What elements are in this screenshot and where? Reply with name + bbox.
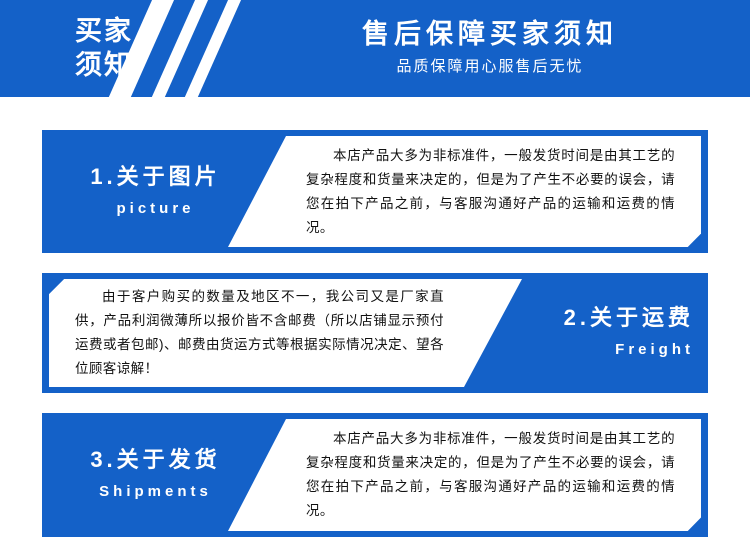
page-title: 售后保障买家须知 <box>250 16 730 52</box>
section-block-freight: 2.关于运费 Freight 由于客户购买的数量及地区不一，我公司又是厂家直供，… <box>42 273 708 393</box>
header-titles: 售后保障买家须知 品质保障用心服售后无忧 <box>250 16 730 80</box>
section-body-text: 由于客户购买的数量及地区不一，我公司又是厂家直供，产品利润微薄所以报价皆不含邮费… <box>75 285 444 381</box>
section-block-picture: 1.关于图片 picture 本店产品大多为非标准件，一般发货时间是由其工艺的复… <box>42 130 708 253</box>
page-subtitle: 品质保障用心服售后无忧 <box>250 54 730 80</box>
section-body-paragraph: 本店产品大多为非标准件，一般发货时间是由其工艺的复杂程度和货量来决定的，但是为了… <box>306 427 675 523</box>
section-body-paragraph: 由于客户购买的数量及地区不一，我公司又是厂家直供，产品利润微薄所以报价皆不含邮费… <box>75 285 444 381</box>
section-panel-picture: 本店产品大多为非标准件，一般发货时间是由其工艺的复杂程度和货量来决定的，但是为了… <box>228 136 701 247</box>
section-panel-freight: 由于客户购买的数量及地区不一，我公司又是厂家直供，产品利润微薄所以报价皆不含邮费… <box>49 279 522 387</box>
section-label-cn: 2.关于运费 <box>493 303 694 333</box>
section-label-picture: 1.关于图片 picture <box>42 130 257 253</box>
page-header: 买家 须知 售后保障买家须知 品质保障用心服售后无忧 <box>0 0 750 97</box>
section-label-cn: 1.关于图片 <box>90 162 220 192</box>
section-block-shipments: 3.关于发货 Shipments 本店产品大多为非标准件，一般发货时间是由其工艺… <box>42 413 708 537</box>
section-label-en: Shipments <box>99 479 212 505</box>
section-body-text: 本店产品大多为非标准件，一般发货时间是由其工艺的复杂程度和货量来决定的，但是为了… <box>306 427 675 523</box>
section-label-en: picture <box>116 196 194 222</box>
section-panel-shipments: 本店产品大多为非标准件，一般发货时间是由其工艺的复杂程度和货量来决定的，但是为了… <box>228 419 701 531</box>
section-label-en: Freight <box>493 337 694 363</box>
section-body-text: 本店产品大多为非标准件，一般发货时间是由其工艺的复杂程度和货量来决定的，但是为了… <box>306 144 675 240</box>
section-label-shipments: 3.关于发货 Shipments <box>42 413 257 537</box>
section-label-freight: 2.关于运费 Freight <box>493 273 708 393</box>
section-body-paragraph: 本店产品大多为非标准件，一般发货时间是由其工艺的复杂程度和货量来决定的，但是为了… <box>306 144 675 240</box>
section-label-cn: 3.关于发货 <box>90 445 220 475</box>
